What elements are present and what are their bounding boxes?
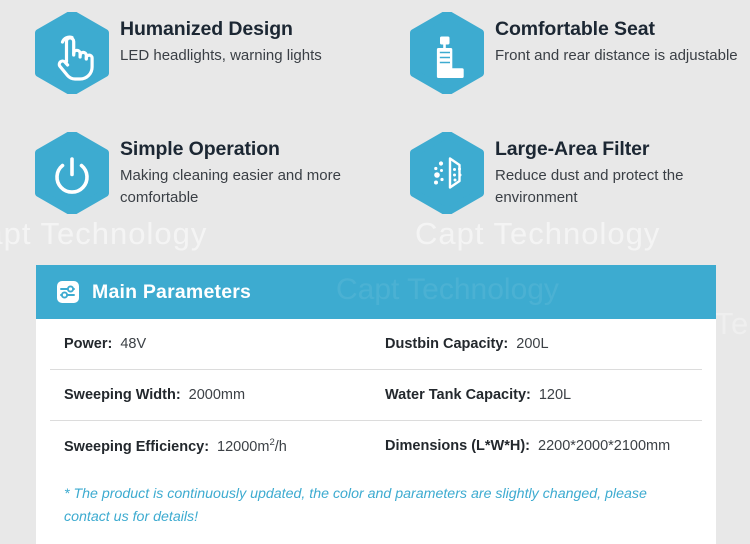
feature-card-humanized-design: Humanized Design LED headlights, warning… [0,0,375,120]
power-button-icon [35,132,109,214]
table-row: Power: 48V Dustbin Capacity: 200L [50,319,702,370]
feature-text: Simple Operation Making cleaning easier … [120,132,370,209]
hand-tap-icon [35,12,109,94]
sliders-icon [56,280,80,304]
main-parameters-panel: Capt Technology Main Parameters Power: 4… [36,265,716,544]
feature-card-simple-operation: Simple Operation Making cleaning easier … [0,120,375,242]
feature-grid: Humanized Design LED headlights, warning… [0,0,750,242]
table-row: Sweeping Width: 2000mm Water Tank Capaci… [50,370,702,421]
param-cell-power: Power: 48V [50,336,385,352]
feature-text: Large-Area Filter Reduce dust and protec… [495,132,745,209]
feature-card-comfortable-seat: Comfortable Seat Front and rear distance… [375,0,750,120]
panel-header: Capt Technology Main Parameters [36,265,716,319]
param-label: Power: [64,336,112,352]
param-value-prefix: 12000m [217,439,269,455]
feature-card-large-area-filter: Large-Area Filter Reduce dust and protec… [375,120,750,242]
feature-description: Making cleaning easier and more comforta… [120,165,370,209]
param-cell-sweeping-width: Sweeping Width: 2000mm [50,387,385,403]
param-value: 12000m2/h [217,437,287,455]
feature-text: Comfortable Seat Front and rear distance… [495,12,738,67]
feature-description: Front and rear distance is adjustable [495,45,738,67]
param-cell-sweeping-efficiency: Sweeping Efficiency: 12000m2/h [50,437,385,455]
param-label: Water Tank Capacity: [385,387,531,403]
panel-title: Main Parameters [92,281,251,304]
param-cell-water-tank-capacity: Water Tank Capacity: 120L [385,387,702,403]
param-value: 2200*2000*2100mm [538,438,670,454]
param-value: 2000mm [189,387,245,403]
panel-body: Power: 48V Dustbin Capacity: 200L Sweepi… [36,319,716,544]
feature-text: Humanized Design LED headlights, warning… [120,12,322,67]
seat-icon [410,12,484,94]
feature-description: Reduce dust and protect the environment [495,165,745,209]
panel-note: * The product is continuously updated, t… [36,471,716,544]
filter-icon [410,132,484,214]
table-row: Sweeping Efficiency: 12000m2/h Dimension… [50,421,702,471]
param-cell-dustbin-capacity: Dustbin Capacity: 200L [385,336,702,352]
param-cell-dimensions: Dimensions (L*W*H): 2200*2000*2100mm [385,438,702,454]
feature-title: Simple Operation [120,138,370,160]
param-label: Sweeping Width: [64,387,181,403]
feature-title: Large-Area Filter [495,138,745,160]
feature-title: Comfortable Seat [495,18,738,40]
param-label: Sweeping Efficiency: [64,439,209,455]
param-value-suffix: /h [275,439,287,455]
feature-description: LED headlights, warning lights [120,45,322,67]
param-label: Dustbin Capacity: [385,336,508,352]
param-value: 48V [120,336,146,352]
watermark-text: Capt Technology [336,273,559,307]
feature-title: Humanized Design [120,18,322,40]
param-value: 200L [516,336,548,352]
param-value: 120L [539,387,571,403]
param-label: Dimensions (L*W*H): [385,438,530,454]
